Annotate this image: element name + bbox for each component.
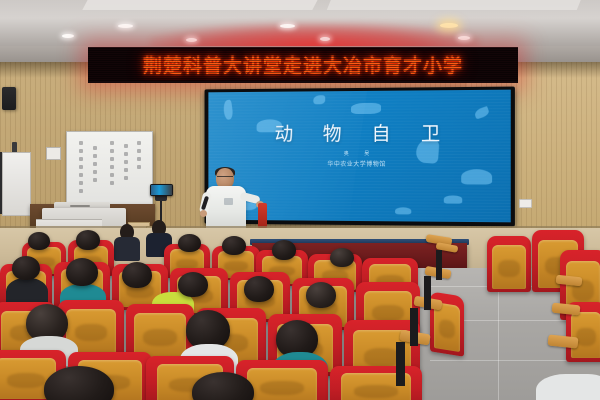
- wall-control-panel: [46, 147, 61, 160]
- seat-leg: [436, 250, 442, 280]
- student-head: [28, 232, 50, 250]
- fire-extinguisher-icon: [258, 203, 267, 228]
- downlight: [186, 38, 197, 42]
- phone-screen: [151, 185, 172, 195]
- armrest: [548, 334, 579, 348]
- seat[interactable]: [330, 366, 422, 400]
- shirt-logo: [224, 198, 233, 205]
- aisle-seat[interactable]: [487, 236, 531, 292]
- presenter-shirt: [206, 186, 246, 231]
- wall-speaker-icon: [2, 87, 16, 110]
- audience-seating: [0, 246, 600, 400]
- student-head: [178, 234, 201, 252]
- downlight: [280, 24, 295, 28]
- attendee-torso: [536, 374, 600, 400]
- student-head: [244, 276, 274, 302]
- projector-slot: [70, 205, 90, 207]
- whiteboard: [66, 131, 153, 210]
- ceiling-slab: [82, 0, 319, 10]
- hedgehog-icon: [461, 169, 492, 184]
- presenter-left-hand: [200, 210, 207, 217]
- student-head: [66, 258, 98, 286]
- downlight: [118, 24, 133, 28]
- led-banner-text: 荆楚科普大讲堂走进大冶市育才小学: [143, 51, 463, 78]
- student-head: [178, 272, 208, 297]
- crab-icon: [395, 207, 411, 214]
- seat-leg: [396, 342, 405, 386]
- armrest: [552, 303, 581, 316]
- seat-leg: [424, 276, 431, 310]
- student-head: [272, 240, 296, 260]
- downlight: [458, 36, 470, 40]
- side-cabinet: [2, 152, 31, 216]
- student-head: [222, 236, 246, 255]
- student-head: [306, 282, 336, 308]
- student-head: [76, 230, 100, 250]
- downlight: [320, 37, 330, 41]
- torso: [114, 237, 140, 261]
- ceiling-slab: [327, 0, 583, 10]
- wall-outlet: [519, 199, 532, 208]
- seat-leg: [410, 308, 418, 346]
- glasses-icon: [217, 176, 233, 180]
- led-banner: 荆楚科普大讲堂走进大冶市育才小学: [88, 47, 518, 83]
- downlight: [440, 23, 458, 28]
- smartphone-on-tripod: [150, 184, 173, 196]
- ceiling: [0, 0, 600, 52]
- animal-silhouette-icon: [444, 195, 462, 203]
- student-head: [330, 248, 354, 267]
- student-head: [122, 262, 152, 288]
- student-head: [12, 256, 40, 280]
- downlight: [62, 34, 74, 38]
- auditorium-photo: 荆楚科普大讲堂走进大冶市育才小学 动 物 自 卫 奥 吴 华中农业大学博物馆: [0, 0, 600, 400]
